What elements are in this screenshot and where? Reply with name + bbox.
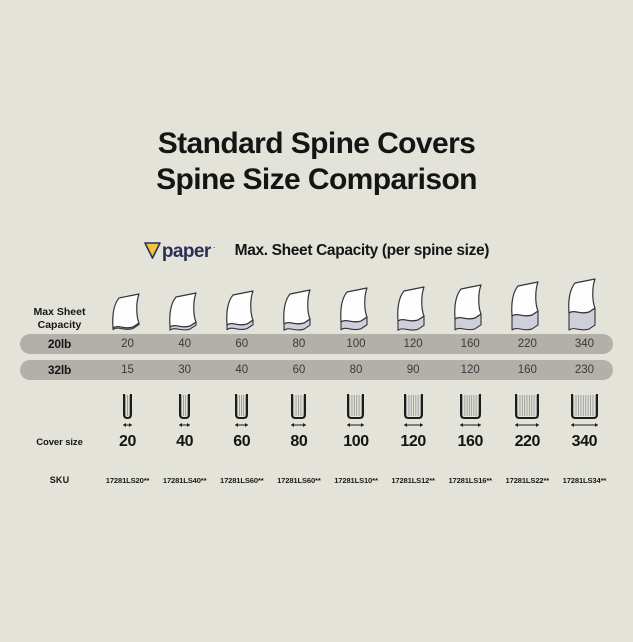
paper-stack-icon-40 xyxy=(156,278,213,332)
capacity-32lb-cell-80: 60 xyxy=(270,364,327,376)
paper-stack-icon-20 xyxy=(99,278,156,332)
capacity-20lb-cell-220: 220 xyxy=(499,338,556,350)
paper-stack-icon-340 xyxy=(556,278,613,332)
cover-size-cell-20: 20 xyxy=(99,433,156,451)
capacity-20lb-cell-160: 160 xyxy=(442,338,499,350)
capacity-32lb-cell-220: 160 xyxy=(499,364,556,376)
spine-profile-icon-40 xyxy=(156,388,213,430)
capacity-20lb-cell-120: 120 xyxy=(385,338,442,350)
sku-cell-340: 17281LS34** xyxy=(556,476,613,485)
capacity-20lb-cell-40: 40 xyxy=(156,338,213,350)
spine-profile-icon-160 xyxy=(442,388,499,430)
cover-size-cell-80: 80 xyxy=(270,433,327,451)
capacity-32lb-cell-60: 40 xyxy=(213,364,270,376)
sku-cell-120: 17281LS12** xyxy=(385,476,442,485)
capacity-32lb-cell-120: 90 xyxy=(385,364,442,376)
spine-profile-icon-340 xyxy=(556,388,613,430)
sku-cell-20: 17281LS20** xyxy=(99,476,156,485)
capacity-32lb-cell-20: 15 xyxy=(99,364,156,376)
capacity-20lb-cell-20: 20 xyxy=(99,338,156,350)
capacity-20lb-cell-80: 80 xyxy=(270,338,327,350)
capacity-20lb-cell-340: 340 xyxy=(556,338,613,350)
capacity-32lb-cell-160: 120 xyxy=(442,364,499,376)
spine-profile-icon-60 xyxy=(213,388,270,430)
capacity-cells-20lb: 20406080100120160220340 xyxy=(99,338,613,350)
paper-stack-icon-100 xyxy=(327,278,384,332)
max-sheet-capacity-line2: Capacity xyxy=(20,319,99,332)
max-sheet-capacity-label: Max Sheet Capacity xyxy=(20,306,99,332)
cover-size-cell-60: 60 xyxy=(213,433,270,451)
spine-profile-icon-120 xyxy=(385,388,442,430)
paper-stack-icon-160 xyxy=(442,278,499,332)
sku-cell-100: 17281LS10** xyxy=(327,476,384,485)
cover-size-cells: 20406080100120160220340 xyxy=(99,433,613,451)
spine-profile-icon-20 xyxy=(99,388,156,430)
capacity-20lb-cell-60: 60 xyxy=(213,338,270,350)
sku-row: SKU 17281LS20**17281LS40**17281LS60**172… xyxy=(20,472,613,488)
sku-cell-80: 17281LS60** xyxy=(270,476,327,485)
capacity-cells-32lb: 153040608090120160230 xyxy=(99,364,613,376)
capacity-32lb-cell-100: 80 xyxy=(327,364,384,376)
cover-size-cell-340: 340 xyxy=(556,433,613,451)
sku-cell-160: 17281LS16** xyxy=(442,476,499,485)
cover-size-cell-160: 160 xyxy=(442,433,499,451)
max-sheet-capacity-line1: Max Sheet xyxy=(20,306,99,319)
capacity-20lb-cell-100: 100 xyxy=(327,338,384,350)
paper-stack-icon-120 xyxy=(385,278,442,332)
spine-profile-row xyxy=(20,388,613,430)
sku-cell-220: 17281LS22** xyxy=(499,476,556,485)
capacity-row-20lb: 20lb 20406080100120160220340 xyxy=(20,334,613,354)
paper-stack-cells xyxy=(99,278,613,332)
cover-size-cell-100: 100 xyxy=(327,433,384,451)
row-label-sku: SKU xyxy=(20,474,99,487)
cover-size-cell-40: 40 xyxy=(156,433,213,451)
paper-stack-row: Max Sheet Capacity xyxy=(20,278,613,332)
spine-profile-icon-100 xyxy=(327,388,384,430)
sku-cells: 17281LS20**17281LS40**17281LS60**17281LS… xyxy=(99,476,613,485)
sku-cell-40: 17281LS40** xyxy=(156,476,213,485)
paper-stack-icon-60 xyxy=(213,278,270,332)
comparison-chart-canvas: Standard Spine Covers Spine Size Compari… xyxy=(0,0,633,642)
spine-comparison-table: Max Sheet Capacity 20lb 2040608010012016… xyxy=(0,0,633,642)
capacity-row-32lb: 32lb 153040608090120160230 xyxy=(20,360,613,380)
sku-cell-60: 17281LS60** xyxy=(213,476,270,485)
cover-size-cell-120: 120 xyxy=(385,433,442,451)
paper-stack-icon-220 xyxy=(499,278,556,332)
spine-profile-cells xyxy=(99,388,613,430)
cover-size-cell-220: 220 xyxy=(499,433,556,451)
capacity-32lb-cell-340: 230 xyxy=(556,364,613,376)
paper-stack-icon-80 xyxy=(270,278,327,332)
cover-size-row: Cover size 20406080100120160220340 xyxy=(20,432,613,452)
capacity-32lb-cell-40: 30 xyxy=(156,364,213,376)
spine-profile-icon-80 xyxy=(270,388,327,430)
spine-profile-icon-220 xyxy=(499,388,556,430)
row-label-20lb: 20lb xyxy=(20,338,99,351)
row-label-cover-size: Cover size xyxy=(20,436,99,449)
row-label-32lb: 32lb xyxy=(20,364,99,377)
